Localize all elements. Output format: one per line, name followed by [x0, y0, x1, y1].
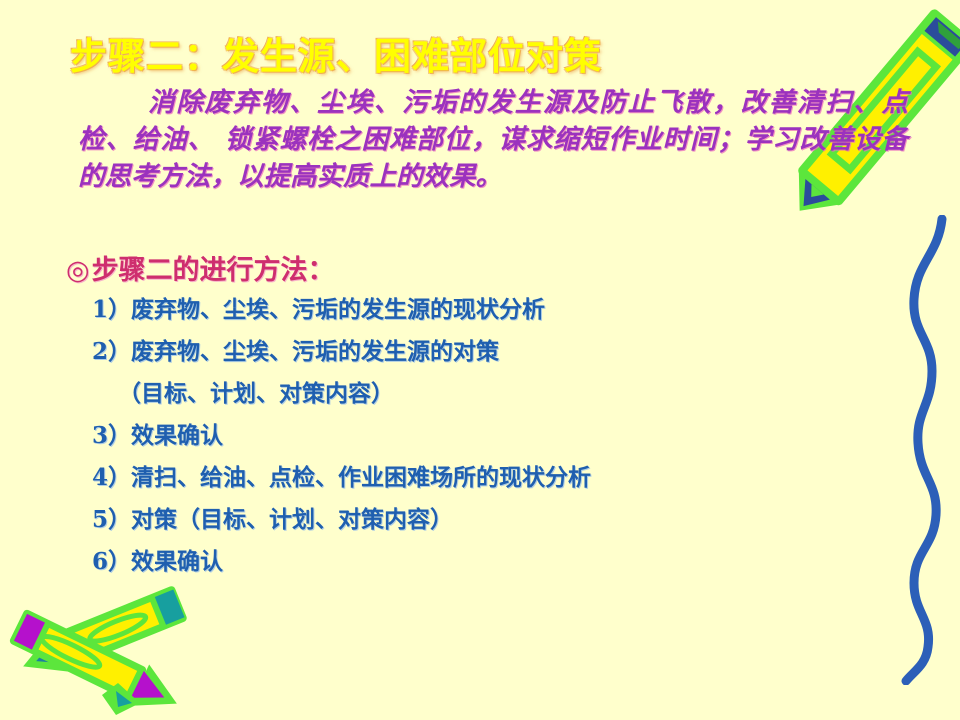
method-heading-label: 步骤二的进行方法： — [92, 255, 335, 286]
list-item: 3）效果确认 — [92, 424, 812, 448]
list-item-number: 5） — [92, 506, 131, 533]
list-item-number: 3） — [92, 422, 131, 449]
list-item-number: 1） — [92, 296, 131, 323]
list-item-label: 效果确认 — [131, 423, 223, 449]
slide-content: 步骤二：发生源、困难部位对策 消除废弃物、尘埃、污垢的发生源及防止飞散，改善清扫… — [0, 0, 960, 720]
list-item-label: （目标、计划、对策内容） — [118, 381, 394, 407]
page-title: 步骤二：发生源、困难部位对策 — [70, 26, 830, 80]
list-item: 6）效果确认 — [92, 550, 812, 574]
steps-list: 1）废弃物、尘埃、污垢的发生源的现状分析2）废弃物、尘埃、污垢的发生源的对策（目… — [92, 298, 812, 574]
list-item: 1）废弃物、尘埃、污垢的发生源的现状分析 — [92, 298, 812, 322]
list-item-number: 2） — [92, 338, 131, 365]
list-item: 5）对策（目标、计划、对策内容） — [92, 508, 812, 532]
list-item-number: 4） — [92, 464, 131, 491]
list-item: （目标、计划、对策内容） — [92, 382, 812, 406]
list-item-label: 废弃物、尘埃、污垢的发生源的现状分析 — [131, 297, 545, 323]
list-item-label: 清扫、给油、点检、作业困难场所的现状分析 — [131, 465, 591, 491]
list-item-number: 6） — [92, 548, 131, 575]
slide-canvas: 步骤二：发生源、困难部位对策 消除废弃物、尘埃、污垢的发生源及防止飞散，改善清扫… — [0, 0, 960, 720]
list-item: 2）废弃物、尘埃、污垢的发生源的对策 — [92, 340, 812, 364]
double-circle-bullet-icon: ◎ — [66, 255, 90, 286]
list-item-label: 废弃物、尘埃、污垢的发生源的对策 — [131, 339, 499, 365]
list-item: 4）清扫、给油、点检、作业困难场所的现状分析 — [92, 466, 812, 490]
intro-paragraph: 消除废弃物、尘埃、污垢的发生源及防止飞散，改善清扫、点检、给油、 锁紧螺栓之困难… — [78, 84, 908, 195]
method-heading: ◎步骤二的进行方法： — [66, 248, 335, 287]
list-item-label: 对策（目标、计划、对策内容） — [131, 507, 453, 533]
list-item-label: 效果确认 — [131, 549, 223, 575]
